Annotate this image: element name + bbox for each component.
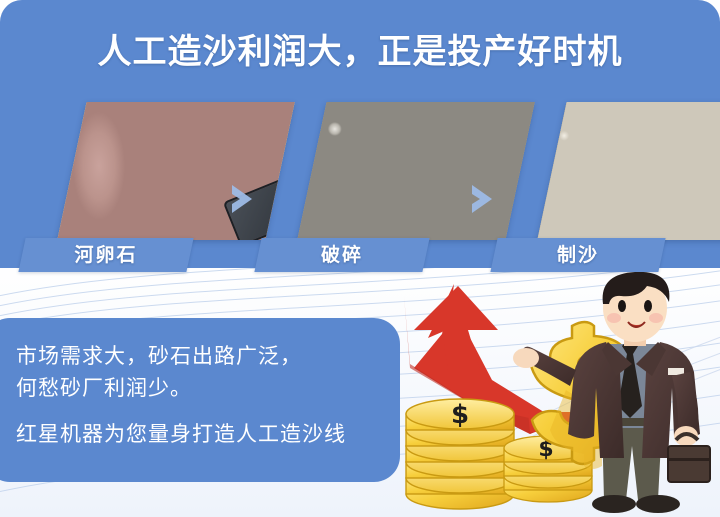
message-box: 市场需求大，砂石出路广泛， 何愁砂厂利润少。 红星机器为您量身打造人工造沙线 bbox=[0, 318, 400, 482]
step-photo-finished-sand bbox=[537, 102, 720, 240]
chevron-right-icon bbox=[468, 182, 500, 216]
step-label-sand-making: 制沙 bbox=[490, 238, 665, 272]
shoe-icon bbox=[636, 495, 680, 513]
step-photo-river-pebbles bbox=[57, 102, 294, 240]
message-line-3: 红星机器为您量身打造人工造沙线 bbox=[16, 418, 382, 450]
message-line-2: 何愁砂厂利润少。 bbox=[16, 372, 382, 404]
chevron-right-icon bbox=[228, 182, 260, 216]
step-label-river-pebbles: 河卵石 bbox=[18, 238, 193, 272]
sand-image bbox=[537, 102, 720, 240]
shoe-icon bbox=[592, 495, 636, 513]
step-photo-crushed-gravel bbox=[297, 102, 534, 240]
step-label-text: 制沙 bbox=[494, 238, 662, 272]
step-label-text: 河卵石 bbox=[22, 238, 190, 272]
hand-icon bbox=[513, 348, 539, 368]
dollar-symbol: $ bbox=[451, 400, 469, 430]
message-line-1: 市场需求大，砂石出路广泛， bbox=[16, 340, 382, 372]
coin-stack-icon: $ bbox=[406, 399, 514, 509]
step-label-crushing: 破碎 bbox=[254, 238, 429, 272]
step-label-text: 破碎 bbox=[258, 238, 426, 272]
gravel-image bbox=[297, 102, 534, 240]
profit-growth-businessman-illustration: $ $ bbox=[380, 272, 720, 517]
poster-banner: 人工造沙利润大，正是投产好时机 河卵石 破碎 制沙 bbox=[0, 0, 720, 517]
pebbles-image bbox=[57, 102, 294, 240]
page-title: 人工造沙利润大，正是投产好时机 bbox=[0, 24, 720, 73]
